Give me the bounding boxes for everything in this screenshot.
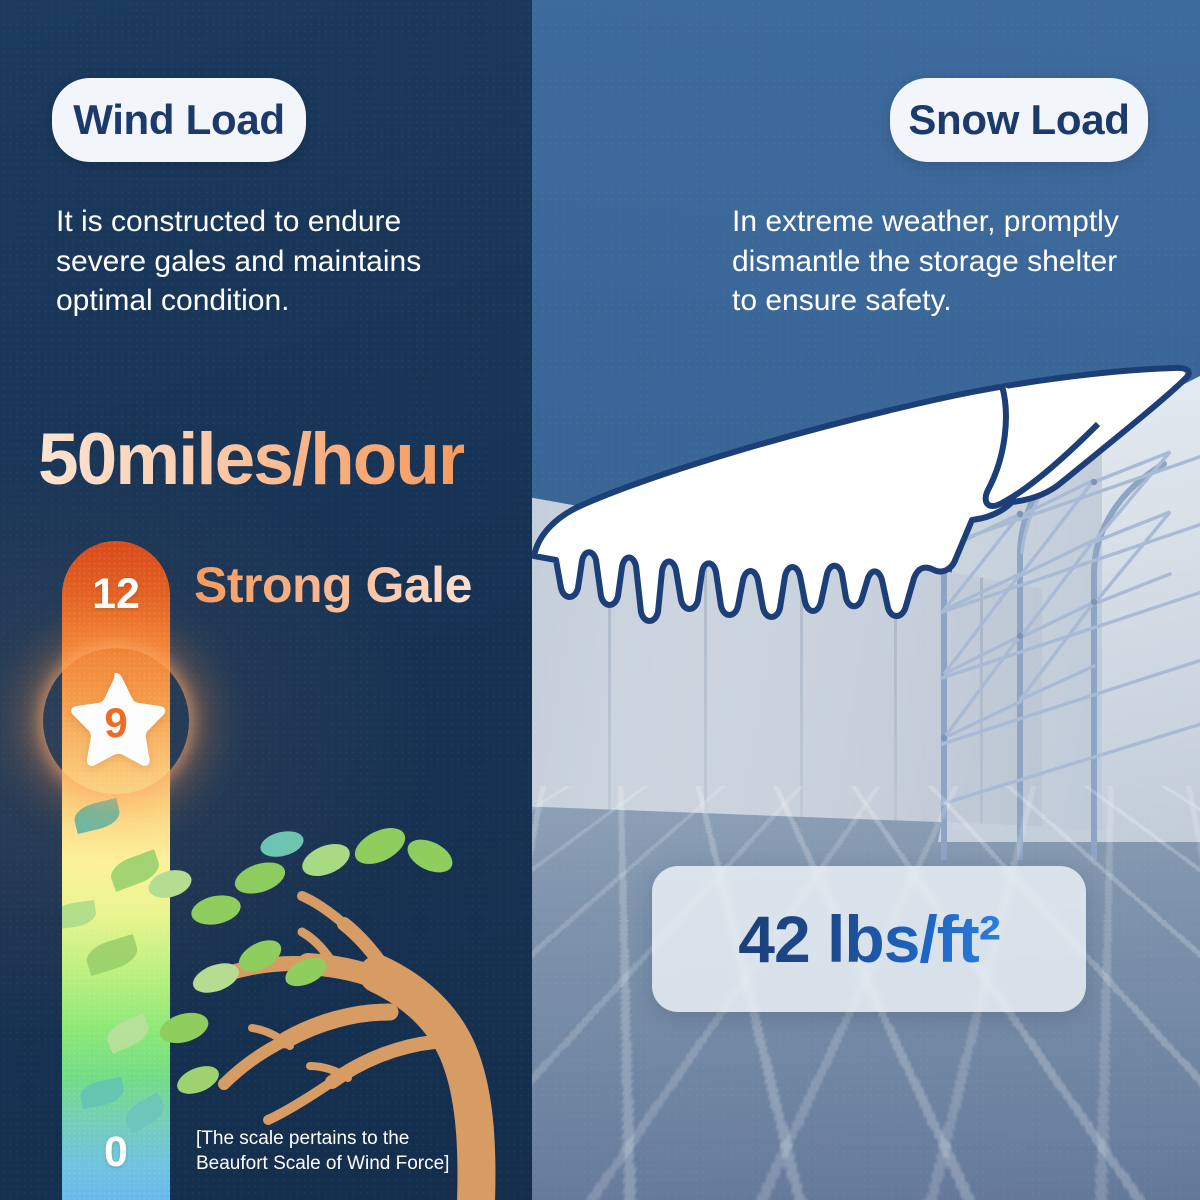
wind-load-description: It is constructed to endure severe gales… [56,202,476,321]
wind-rating-badge[interactable]: 9 [43,648,189,794]
snow-load-value: 42 lbs/ft² [738,901,999,977]
wind-rating-value: 9 [62,669,170,773]
scale-min-label: 0 [62,1128,170,1177]
beaufort-scale-bar [62,541,170,1200]
snow-load-pill-label: Snow Load [908,96,1129,144]
wind-load-pill-label: Wind Load [73,96,285,144]
leaf-icon [62,900,97,930]
wind-load-panel: 12 0 9 [0,0,532,1200]
gale-category-label: Strong Gale [194,556,472,614]
leaf-icon [72,798,123,834]
storage-shelter-illustration [532,0,1200,1200]
snow-load-description: In extreme weather, promptly dismantle t… [732,202,1162,321]
snow-load-panel: Snow Load In extreme weather, promptly d… [532,0,1200,1200]
star-icon: 9 [62,669,170,773]
wind-speed-headline: 50miles/hour [38,418,464,501]
snow-blanket-icon [532,360,1200,660]
wind-bent-tree-icon [140,760,532,1200]
leaf-icon [83,934,141,976]
scale-max-label: 12 [62,570,170,619]
snow-load-pill[interactable]: Snow Load [890,78,1148,162]
wind-load-pill[interactable]: Wind Load [52,78,306,162]
snow-load-value-panel[interactable]: 42 lbs/ft² [652,866,1086,1012]
leaf-icon [78,1077,126,1110]
infographic-canvas: 12 0 9 [0,0,1200,1200]
